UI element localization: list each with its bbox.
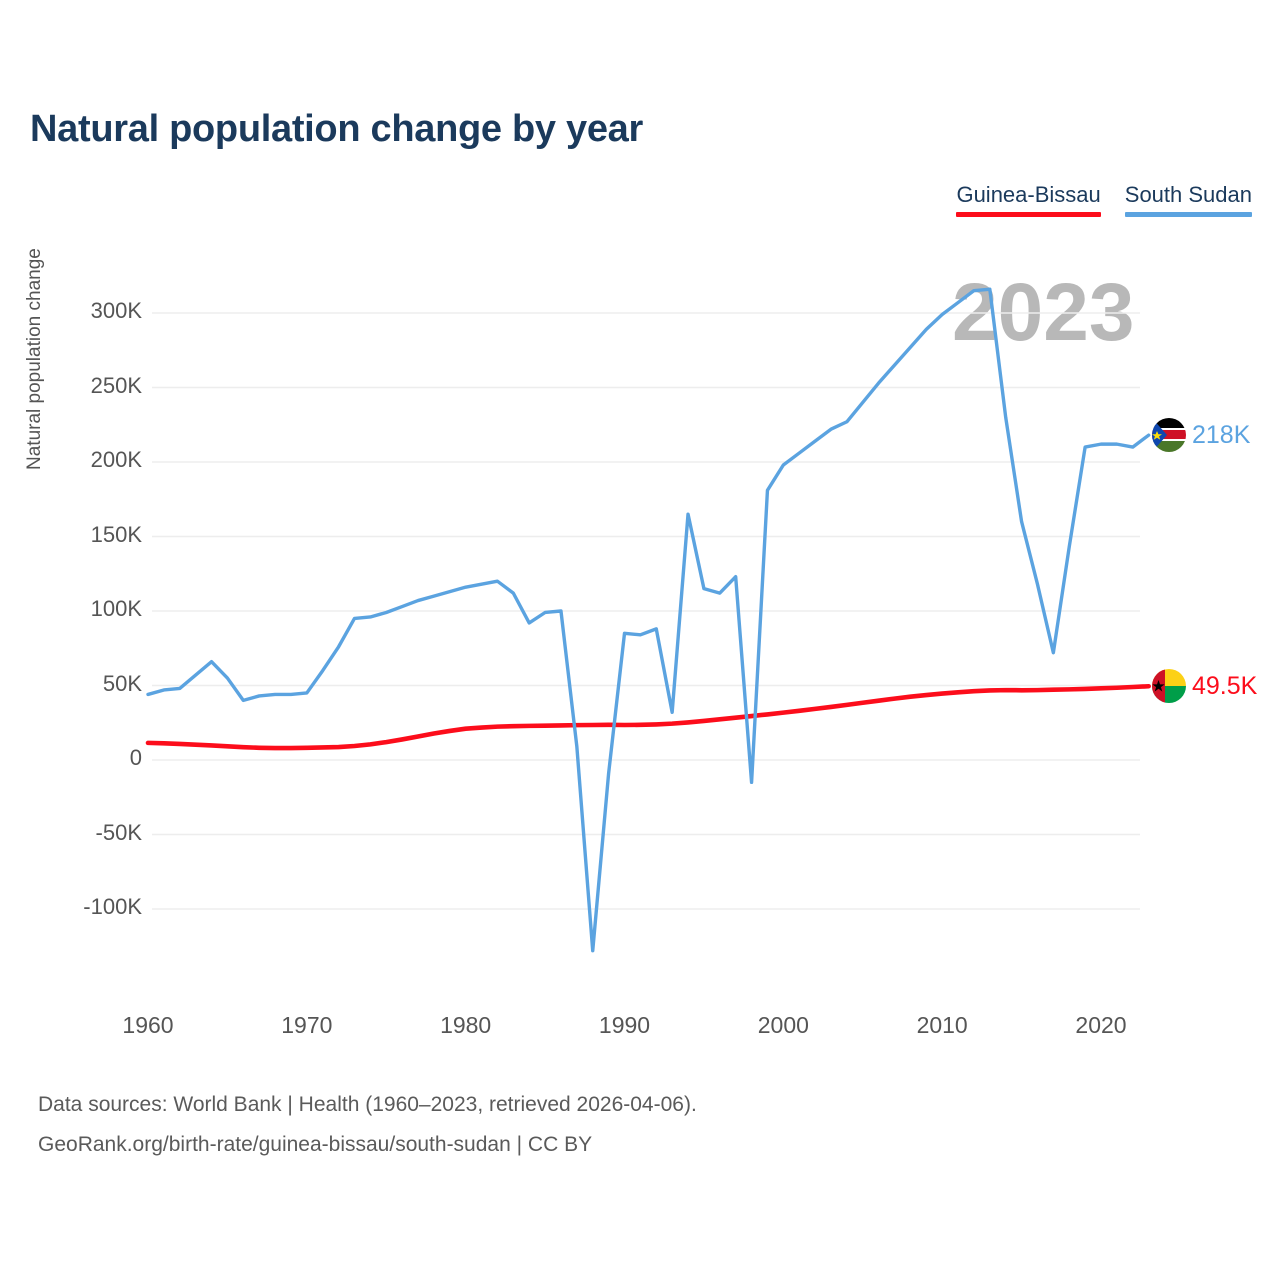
y-tick-label: 50K xyxy=(103,671,142,697)
footer-data-sources: Data sources: World Bank | Health (1960–… xyxy=(38,1085,697,1125)
chart-page: Natural population change by year Guinea… xyxy=(0,0,1280,1280)
x-tick-label: 1980 xyxy=(416,1012,516,1039)
x-tick-label: 2000 xyxy=(733,1012,833,1039)
series-line-guinea-bissau xyxy=(148,686,1149,748)
south-sudan-flag-icon xyxy=(1152,418,1186,452)
y-tick-label: -50K xyxy=(96,820,142,846)
end-label-value-guinea-bissau: 49.5K xyxy=(1192,672,1257,701)
gridlines xyxy=(152,313,1140,909)
x-tick-label: 1960 xyxy=(98,1012,198,1039)
x-tick-label: 1970 xyxy=(257,1012,357,1039)
series-line-south-sudan xyxy=(148,289,1149,951)
y-tick-label: 0 xyxy=(130,745,142,771)
end-label-south-sudan: 218K xyxy=(1152,418,1250,452)
x-tick-label: 1990 xyxy=(575,1012,675,1039)
y-tick-label: 150K xyxy=(91,522,142,548)
guinea-bissau-flag-icon xyxy=(1152,669,1186,703)
series-lines xyxy=(148,289,1149,951)
y-tick-label: -100K xyxy=(83,894,142,920)
footer: Data sources: World Bank | Health (1960–… xyxy=(38,1085,697,1165)
y-tick-label: 250K xyxy=(91,373,142,399)
x-tick-label: 2020 xyxy=(1051,1012,1151,1039)
end-label-value-south-sudan: 218K xyxy=(1192,421,1250,450)
y-tick-label: 200K xyxy=(91,447,142,473)
footer-attribution: GeoRank.org/birth-rate/guinea-bissau/sou… xyxy=(38,1125,697,1165)
y-tick-label: 300K xyxy=(91,298,142,324)
end-label-guinea-bissau: 49.5K xyxy=(1152,669,1257,703)
y-tick-label: 100K xyxy=(91,596,142,622)
x-tick-label: 2010 xyxy=(892,1012,992,1039)
